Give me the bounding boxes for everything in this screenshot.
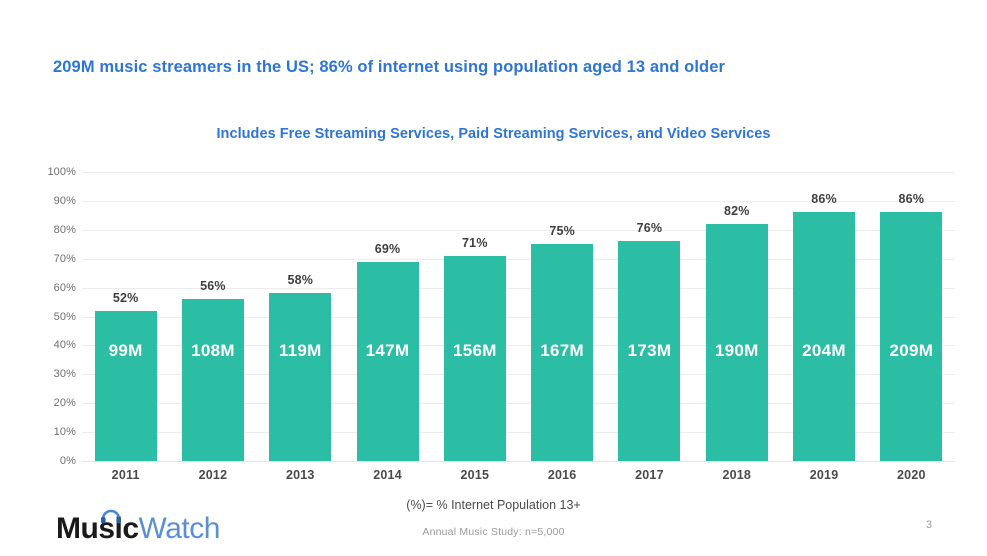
bar-percent-label: 86% — [880, 192, 942, 206]
x-axis-tick-label: 2016 — [531, 468, 593, 482]
x-axis-tick-label: 2012 — [182, 468, 244, 482]
bar-percent-label: 56% — [182, 279, 244, 293]
x-axis-tick-label: 2019 — [793, 468, 855, 482]
bar[interactable] — [95, 311, 157, 461]
gridline — [82, 461, 955, 462]
bar[interactable] — [182, 299, 244, 461]
bar-percent-label: 75% — [531, 224, 593, 238]
bar-column[interactable]: 52%99M — [95, 172, 157, 461]
x-axis-tick-label: 2017 — [618, 468, 680, 482]
bar-count-label: 209M — [880, 341, 942, 361]
x-axis: 2011201220132014201520162017201820192020 — [82, 468, 955, 488]
bar-column[interactable]: 58%119M — [269, 172, 331, 461]
bar[interactable] — [793, 212, 855, 461]
bar-count-label: 173M — [618, 341, 680, 361]
bar-column[interactable]: 56%108M — [182, 172, 244, 461]
bar-count-label: 99M — [95, 341, 157, 361]
plot-area: 52%99M56%108M58%119M69%147M71%156M75%167… — [82, 172, 955, 461]
x-axis-tick-label: 2018 — [706, 468, 768, 482]
bar-percent-label: 52% — [95, 291, 157, 305]
x-axis-tick-label: 2011 — [95, 468, 157, 482]
bar-column[interactable]: 82%190M — [706, 172, 768, 461]
chart-title: Includes Free Streaming Services, Paid S… — [0, 126, 987, 142]
bar-column[interactable]: 71%156M — [444, 172, 506, 461]
x-axis-tick-label: 2020 — [880, 468, 942, 482]
y-axis-tick-label: 80% — [30, 224, 76, 236]
bar-percent-label: 86% — [793, 192, 855, 206]
bar-percent-label: 69% — [357, 242, 419, 256]
bar-count-label: 167M — [531, 341, 593, 361]
bar[interactable] — [269, 293, 331, 461]
y-axis: 100%90%80%70%60%50%40%30%20%10%0% — [24, 172, 76, 461]
bar-percent-label: 76% — [618, 221, 680, 235]
bar-count-label: 119M — [269, 341, 331, 361]
bar-column[interactable]: 86%204M — [793, 172, 855, 461]
y-axis-tick-label: 50% — [30, 311, 76, 323]
bar-percent-label: 82% — [706, 204, 768, 218]
source-note: Annual Music Study: n=5,000 — [0, 526, 987, 538]
bar-chart: Includes Free Streaming Services, Paid S… — [0, 0, 987, 556]
bar-column[interactable]: 86%209M — [880, 172, 942, 461]
bar-column[interactable]: 69%147M — [357, 172, 419, 461]
y-axis-tick-label: 20% — [30, 397, 76, 409]
x-axis-tick-label: 2013 — [269, 468, 331, 482]
y-axis-tick-label: 0% — [30, 455, 76, 467]
headphones-icon — [100, 508, 122, 524]
bar-percent-label: 58% — [269, 273, 331, 287]
axis-footnote: (%)= % Internet Population 13+ — [0, 498, 987, 512]
y-axis-tick-label: 40% — [30, 339, 76, 351]
bar-count-label: 204M — [793, 341, 855, 361]
bar-column[interactable]: 75%167M — [531, 172, 593, 461]
bar[interactable] — [880, 212, 942, 461]
bar-percent-label: 71% — [444, 236, 506, 250]
bar-count-label: 147M — [357, 341, 419, 361]
bar-column[interactable]: 76%173M — [618, 172, 680, 461]
bar-count-label: 156M — [444, 341, 506, 361]
bar-count-label: 190M — [706, 341, 768, 361]
y-axis-tick-label: 70% — [30, 253, 76, 265]
y-axis-tick-label: 100% — [30, 166, 76, 178]
y-axis-tick-label: 10% — [30, 426, 76, 438]
x-axis-tick-label: 2015 — [444, 468, 506, 482]
x-axis-tick-label: 2014 — [357, 468, 419, 482]
page-number: 3 — [926, 519, 932, 531]
bar-count-label: 108M — [182, 341, 244, 361]
y-axis-tick-label: 60% — [30, 282, 76, 294]
y-axis-tick-label: 90% — [30, 195, 76, 207]
bar[interactable] — [357, 262, 419, 461]
y-axis-tick-label: 30% — [30, 368, 76, 380]
